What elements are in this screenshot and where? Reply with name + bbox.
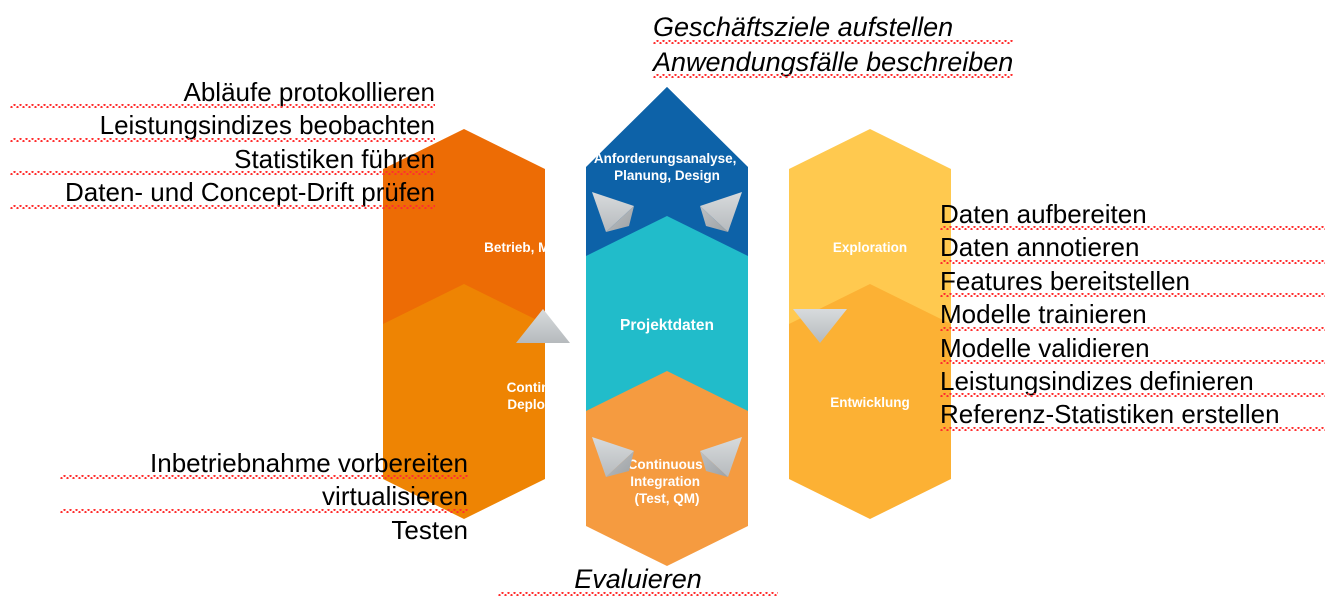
hexagon-continuous-integration-label: Continuous Integration (Test, QM) [628, 457, 707, 506]
note-top-line-1: Geschäftsziele aufstellen [653, 10, 1013, 45]
note-bottom-line-1: Evaluieren [498, 562, 778, 597]
note-bottom-left-line-3: Testen [60, 514, 468, 547]
hexagon-entwicklung-label: Entwicklung [830, 395, 910, 410]
note-bottom-left: Inbetriebnahme vorbereiten virtualisiere… [60, 447, 468, 547]
note-right-line-6: Leistungsindizes definieren [940, 365, 1325, 398]
note-right: Daten aufbereiten Daten annotieren Featu… [940, 198, 1325, 432]
note-right-line-5: Modelle validieren [940, 332, 1325, 365]
note-left-line-2: Leistungsindizes beobachten [10, 109, 435, 142]
note-left-line-1: Abläufe protokollieren [10, 76, 435, 109]
note-left: Abläufe protokollieren Leistungsindizes … [10, 76, 435, 210]
diagram-page: Betrieb, Monitoring Anforderungsanalyse,… [0, 0, 1329, 609]
hexagon-exploration-label: Exploration [833, 240, 907, 255]
note-right-line-2: Daten annotieren [940, 231, 1325, 264]
note-right-line-1: Daten aufbereiten [940, 198, 1325, 231]
note-top: Geschäftsziele aufstellen Anwendungsfäll… [653, 10, 1013, 79]
hexagon-projektdaten-label: Projektdaten [620, 317, 714, 334]
note-left-line-3: Statistiken führen [10, 143, 435, 176]
note-top-line-2: Anwendungsfälle beschreiben [653, 45, 1013, 80]
note-right-line-3: Features bereitstellen [940, 265, 1325, 298]
note-bottom-left-line-2: virtualisieren [60, 480, 468, 513]
note-right-line-4: Modelle trainieren [940, 298, 1325, 331]
note-bottom-left-line-1: Inbetriebnahme vorbereiten [60, 447, 468, 480]
note-bottom: Evaluieren [498, 562, 778, 597]
note-right-line-7: Referenz-Statistiken erstellen [940, 398, 1325, 431]
note-left-line-4: Daten- und Concept-Drift prüfen [10, 176, 435, 209]
